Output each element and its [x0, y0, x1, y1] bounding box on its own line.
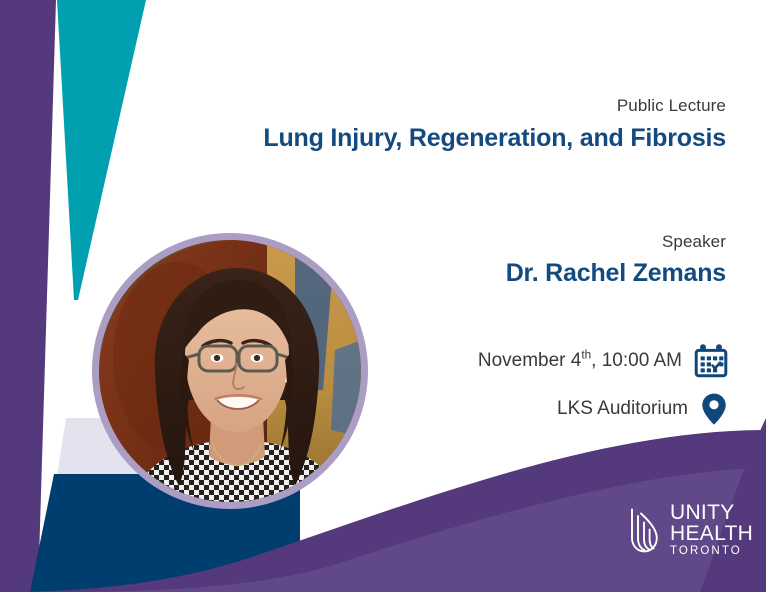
- location-row: LKS Auditorium: [557, 392, 728, 426]
- unity-health-logo: UNITY HEALTH TORONTO: [628, 502, 753, 559]
- speaker-photo: [99, 240, 361, 502]
- speaker-portrait: [92, 233, 368, 509]
- logo-line-toronto: TORONTO: [670, 544, 753, 559]
- date-time: , 10:00 AM: [591, 350, 682, 371]
- calendar-icon: [694, 344, 728, 378]
- unity-health-wordmark: UNITY HEALTH TORONTO: [670, 502, 753, 559]
- logo-line-health: HEALTH: [670, 523, 753, 544]
- date-text: November 4th, 10:00 AM: [478, 350, 682, 372]
- lecture-title: Lung Injury, Regeneration, and Fibrosis: [263, 124, 726, 153]
- lecture-eyebrow: Public Lecture: [263, 96, 726, 116]
- speaker-eyebrow: Speaker: [506, 232, 726, 252]
- date-month-day: November 4: [478, 350, 582, 371]
- logo-line-unity: UNITY: [670, 502, 753, 523]
- speaker-name: Dr. Rachel Zemans: [506, 259, 726, 288]
- speaker-photo-illustration: [99, 240, 361, 502]
- location-text: LKS Auditorium: [557, 398, 688, 420]
- date-row: November 4th, 10:00 AM: [478, 344, 728, 378]
- speaker-block: Speaker Dr. Rachel Zemans: [506, 232, 726, 288]
- lecture-title-block: Public Lecture Lung Injury, Regeneration…: [263, 96, 726, 153]
- lecture-poster: Public Lecture Lung Injury, Regeneration…: [0, 0, 766, 592]
- unity-health-leaf-mark: [628, 507, 661, 554]
- map-pin-icon: [700, 392, 728, 426]
- date-ordinal-suffix: th: [581, 349, 591, 362]
